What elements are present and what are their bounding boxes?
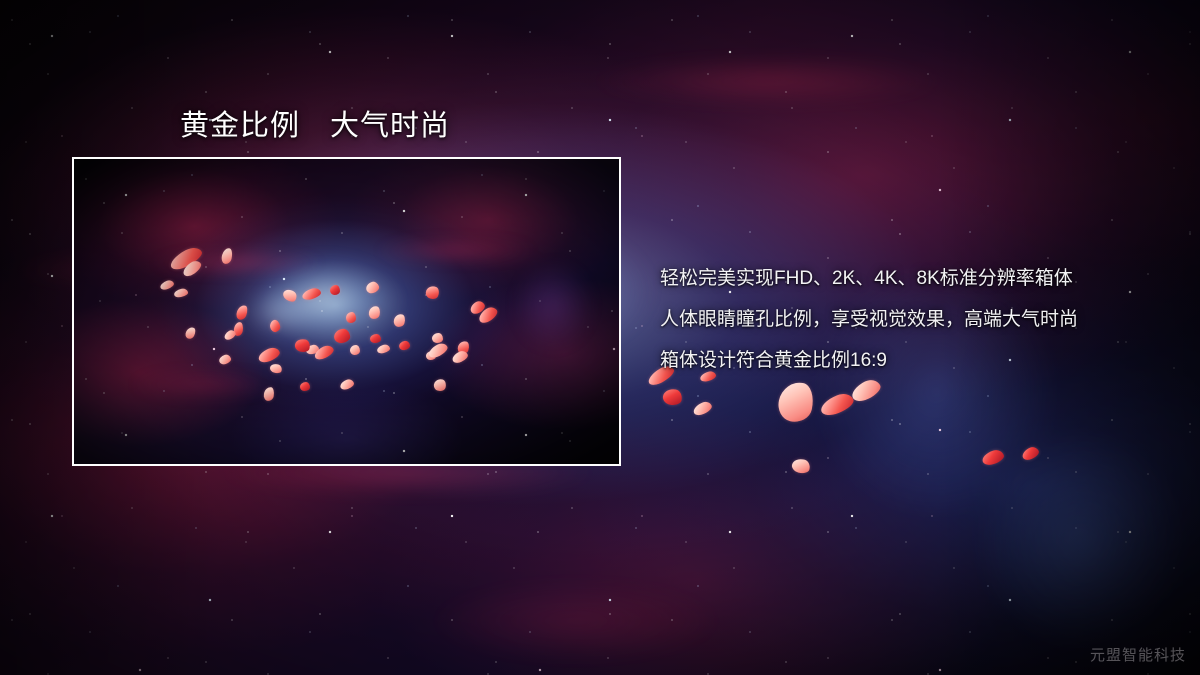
- framed-image-panel[interactable]: [72, 157, 621, 466]
- panel-image: [74, 159, 619, 464]
- description-line-3: 箱体设计符合黄金比例16:9: [660, 340, 1170, 381]
- slide-root: 黄金比例 大气时尚 轻松完美实现FHD、2K、4K、8K标准分辨率箱体 人体眼睛…: [0, 0, 1200, 675]
- petal-icon: [981, 448, 1006, 467]
- description-block: 轻松完美实现FHD、2K、4K、8K标准分辨率箱体 人体眼睛瞳孔比例，享受视觉效…: [660, 258, 1170, 381]
- description-line-1: 轻松完美实现FHD、2K、4K、8K标准分辨率箱体: [660, 258, 1170, 299]
- page-title: 黄金比例 大气时尚: [180, 102, 450, 144]
- petal-icon: [791, 457, 812, 475]
- petal-icon: [775, 379, 817, 425]
- petal-icon: [662, 387, 683, 406]
- petal-icon: [692, 400, 714, 418]
- watermark: 元盟智能科技: [1090, 644, 1186, 665]
- panel-vignette: [74, 159, 619, 464]
- petal-icon: [818, 390, 856, 418]
- description-line-2: 人体眼睛瞳孔比例，享受视觉效果，高端大气时尚: [660, 299, 1170, 340]
- petal-icon: [1020, 445, 1040, 462]
